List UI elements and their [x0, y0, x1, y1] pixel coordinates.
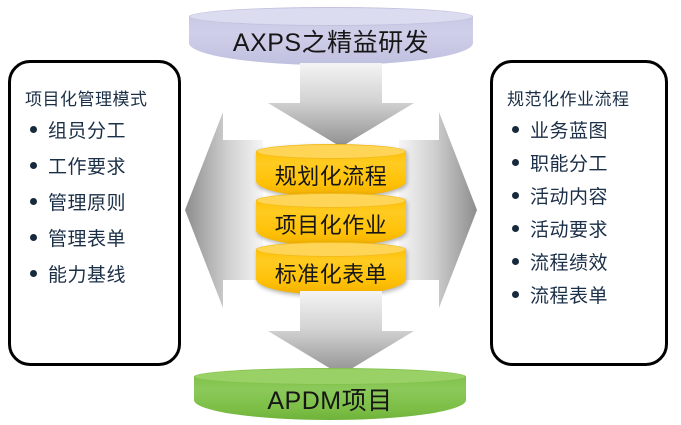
center-cylinder-2-top-ellipse	[256, 193, 406, 208]
bullet-dot-icon	[30, 234, 37, 241]
bullet-dot-icon	[512, 159, 519, 166]
list-item: 流程表单	[507, 281, 657, 308]
center-cylinder-3-label: 标准化表单	[275, 257, 388, 289]
bullet-dot-icon	[512, 192, 519, 199]
bullet-dot-icon	[512, 126, 519, 133]
list-item: 职能分工	[507, 149, 657, 176]
right-panel-header: 规范化作业流程	[507, 85, 657, 110]
center-cylinder-2-label: 项目化作业	[275, 208, 388, 240]
right-panel: 规范化作业流程 业务蓝图 职能分工 活动内容 活动要求 流程绩效	[490, 60, 668, 366]
center-cylinder-2: 项目化作业	[256, 193, 406, 248]
center-cylinder-3: 标准化表单	[256, 242, 406, 297]
left-panel-header: 项目化管理模式	[25, 85, 170, 110]
list-item: 组员分工	[25, 116, 170, 143]
arrow-left-icon	[185, 112, 263, 308]
list-item: 管理原则	[25, 188, 170, 215]
bottom-cylinder: APDM项目	[194, 368, 466, 422]
list-item-label: 活动要求	[530, 215, 608, 242]
list-item: 管理表单	[25, 224, 170, 251]
list-item-label: 管理表单	[48, 224, 126, 251]
center-cylinder-1-top-ellipse	[256, 144, 406, 159]
center-cylinder-1: 规划化流程	[256, 144, 406, 199]
list-item-label: 业务蓝图	[530, 116, 608, 143]
list-item-label: 工作要求	[48, 152, 126, 179]
bullet-dot-icon	[512, 291, 519, 298]
center-cylinder-1-label: 规划化流程	[275, 159, 388, 191]
top-cylinder-label: AXPS之精益研发	[233, 23, 429, 59]
list-item: 活动要求	[507, 215, 657, 242]
left-panel: 项目化管理模式 组员分工 工作要求 管理原则 管理表单 能力基线	[8, 60, 181, 366]
list-item: 流程绩效	[507, 248, 657, 275]
list-item: 工作要求	[25, 152, 170, 179]
list-item-label: 流程表单	[530, 281, 608, 308]
list-item: 活动内容	[507, 182, 657, 209]
list-item-label: 管理原则	[48, 188, 126, 215]
bullet-dot-icon	[30, 162, 37, 169]
list-item-label: 职能分工	[530, 149, 608, 176]
bullet-dot-icon	[30, 126, 37, 133]
arrow-down-top-icon	[268, 63, 414, 147]
list-item: 能力基线	[25, 260, 170, 287]
diagram-canvas: AXPS之精益研发 项目化管理模式 组员分工 工作要求	[0, 0, 681, 425]
bullet-dot-icon	[30, 270, 37, 277]
arrow-down-bottom-icon	[268, 291, 414, 375]
bottom-cylinder-label: APDM项目	[267, 381, 392, 417]
center-cylinder-3-top-ellipse	[256, 242, 406, 257]
top-cylinder: AXPS之精益研发	[189, 7, 473, 67]
bullet-dot-icon	[512, 258, 519, 265]
list-item-label: 组员分工	[48, 116, 126, 143]
left-panel-list: 组员分工 工作要求 管理原则 管理表单 能力基线	[25, 116, 170, 287]
list-item-label: 流程绩效	[530, 248, 608, 275]
bullet-dot-icon	[512, 225, 519, 232]
list-item-label: 活动内容	[530, 182, 608, 209]
list-item-label: 能力基线	[48, 260, 126, 287]
bullet-dot-icon	[30, 198, 37, 205]
right-panel-list: 业务蓝图 职能分工 活动内容 活动要求 流程绩效 流程表单	[507, 116, 657, 308]
list-item: 业务蓝图	[507, 116, 657, 143]
arrow-right-icon	[399, 112, 477, 308]
